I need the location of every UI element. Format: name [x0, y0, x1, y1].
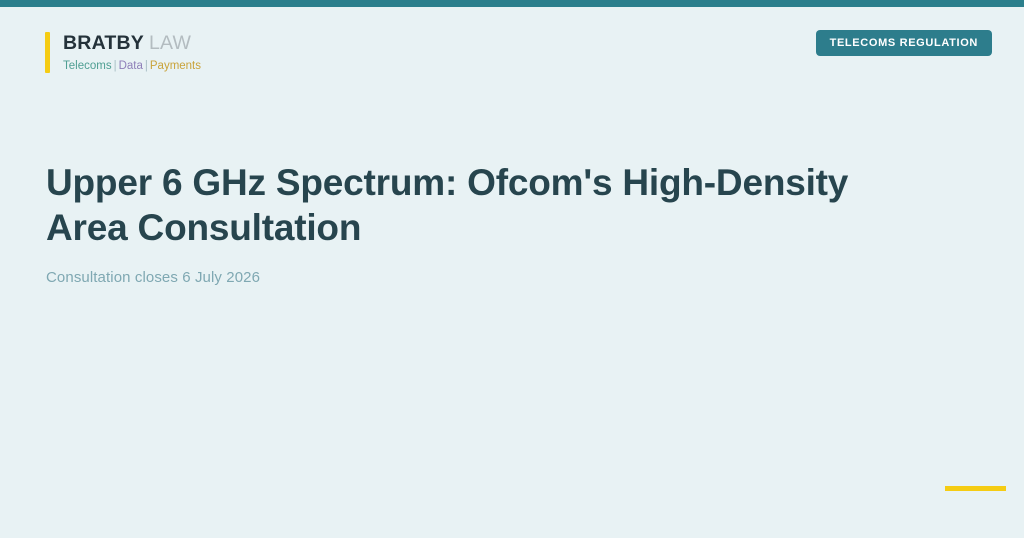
title-block: Upper 6 GHz Spectrum: Ofcom's High-Densi… — [46, 160, 876, 288]
brand-name: BRATBYLAW — [63, 32, 201, 54]
title-slide: BRATBYLAW Telecoms|Data|Payments TELECOM… — [0, 0, 1024, 538]
tagline-separator-2: | — [145, 60, 148, 72]
tagline-separator-1: | — [114, 60, 117, 72]
page-subtitle: Consultation closes 6 July 2026 — [46, 268, 876, 288]
category-badge: TELECOMS REGULATION — [816, 30, 992, 56]
tagline-payments: Payments — [150, 60, 201, 72]
brand-name-secondary: LAW — [149, 32, 191, 54]
brand-text-group: BRATBYLAW Telecoms|Data|Payments — [63, 32, 201, 73]
brand-tagline: Telecoms|Data|Payments — [63, 59, 201, 73]
brand-logo: BRATBYLAW Telecoms|Data|Payments — [45, 32, 201, 73]
brand-name-primary: BRATBY — [63, 32, 144, 54]
page-title: Upper 6 GHz Spectrum: Ofcom's High-Densi… — [46, 160, 876, 250]
tagline-data: Data — [119, 60, 143, 72]
top-accent-bar — [0, 0, 1024, 7]
brand-accent-rule — [45, 32, 50, 73]
bottom-accent-rule — [945, 486, 1006, 491]
tagline-telecoms: Telecoms — [63, 60, 112, 72]
